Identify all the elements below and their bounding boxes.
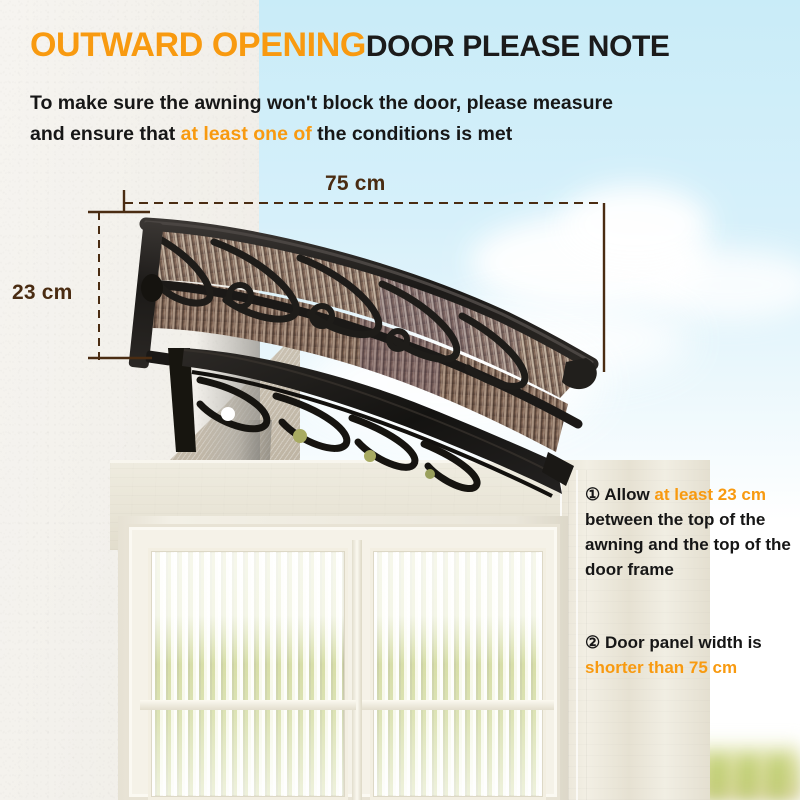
page-title: OUTWARD OPENINGDOOR PLEASE NOTE [30,26,670,65]
callout-highlight: 75 cm [689,658,737,677]
subtitle-line-2: and ensure that at least one of the cond… [30,123,512,146]
title-highlight: OUTWARD OPENING [30,26,366,64]
callout-marker: ① [585,485,604,504]
callout-condition-1: ① Allow at least 23 cm between the top o… [585,482,800,582]
infographic-canvas: 75 cm 23 cm OUTWARD OPENINGDOOR PLEASE N… [0,0,800,800]
callout-text: Door panel width is [605,633,762,652]
callout-condition-2: ② Door panel width is shorter than 75 cm [585,630,800,680]
callout-marker: ② [585,633,605,652]
subtitle-line-1: To make sure the awning won't block the … [30,92,613,115]
awning-illustration [0,0,800,800]
callout-text: Allow [604,485,654,504]
awning-mount-boss [141,274,163,302]
subtitle-post: the conditions is met [312,123,512,145]
callout-highlight: 23 cm [718,485,766,504]
height-dimension-label: 23 cm [12,281,73,305]
callout-highlight: shorter than [585,658,684,677]
title-rest: DOOR PLEASE NOTE [366,30,670,63]
subtitle-pre: and ensure that [30,123,181,145]
callout-highlight: at least [654,485,713,504]
subtitle-highlight: at least one of [181,123,312,145]
awning-end-cap [562,358,597,389]
callout-text: between the top of the awning and the to… [585,510,791,579]
width-dimension-label: 75 cm [325,172,386,196]
